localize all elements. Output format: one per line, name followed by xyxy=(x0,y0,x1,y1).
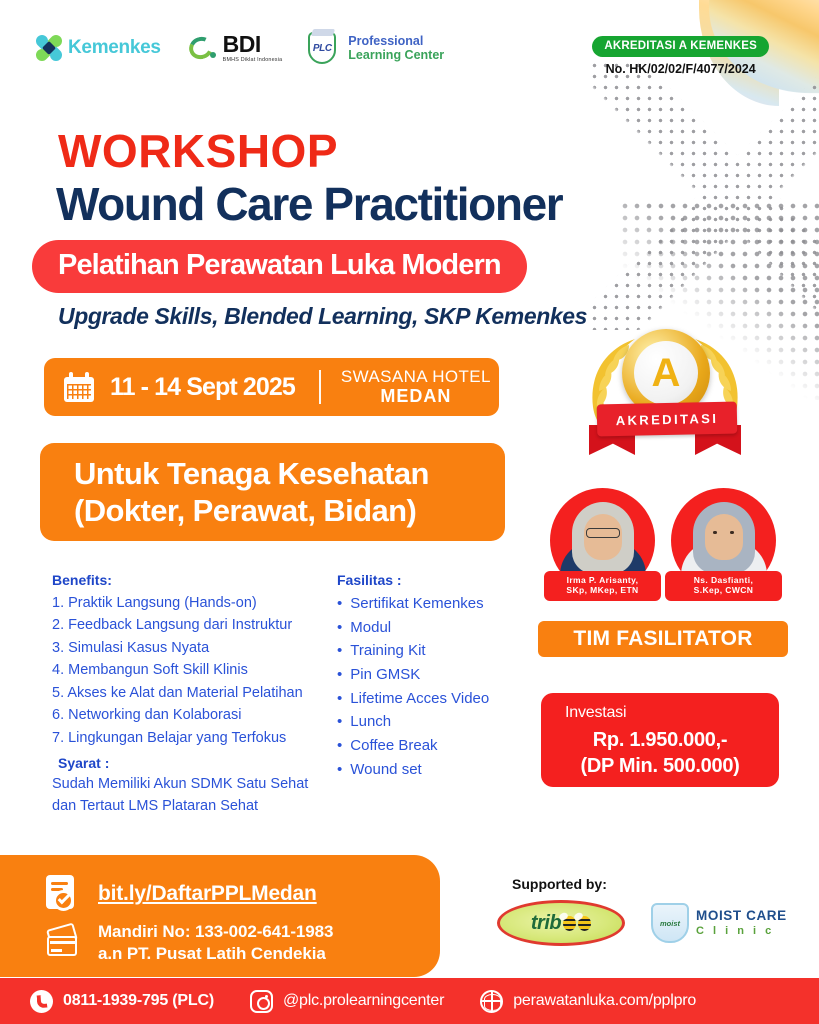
bank-account-name: a.n PT. Pusat Latih Cendekia xyxy=(98,943,333,965)
fasilitas-item-label: Training Kit xyxy=(350,639,425,663)
bullet-icon: • xyxy=(337,620,342,635)
plc-logo-line1: Professional xyxy=(348,34,444,48)
benefits-item: 6. Networking dan Kolaborasi xyxy=(52,704,332,726)
bullet-icon: • xyxy=(337,762,342,777)
list-item: •Training Kit xyxy=(337,639,537,663)
halftone-dots-decoration xyxy=(589,60,819,330)
shield-icon: moist xyxy=(651,903,689,943)
event-venue: SWASANA HOTEL MEDAN xyxy=(341,367,491,406)
plc-logo-line2: Learning Center xyxy=(348,48,444,62)
list-item: •Coffee Break xyxy=(337,734,537,758)
benefits-item: 7. Lingkungan Belajar yang Terfokus xyxy=(52,727,332,749)
graduation-cap-icon xyxy=(311,29,335,36)
fasilitas-block: Fasilitas : •Sertifikat Kemenkes •Modul … xyxy=(337,572,537,782)
schedule-bar: 11 - 14 Sept 2025 SWASANA HOTEL MEDAN xyxy=(44,358,499,416)
facilitator-card: Irma P. Arisanty, SKp, MKep, ETN xyxy=(550,488,655,593)
supporter-logos: trib moist MOIST CARE C l i n i c xyxy=(497,900,787,946)
bdi-logo: BDI BMHS Diklat Indonesia xyxy=(187,33,283,63)
bullet-icon: • xyxy=(337,643,342,658)
title-pill: Pelatihan Perawatan Luka Modern xyxy=(32,240,527,293)
registration-panel: bit.ly/DaftarPPLMedan Mandiri No: 133-00… xyxy=(0,855,440,977)
facilitator-name-badge: Irma P. Arisanty, SKp, MKep, ETN xyxy=(544,571,661,601)
fasilitas-item-label: Lunch xyxy=(350,710,391,734)
divider xyxy=(319,370,321,404)
bullet-icon: • xyxy=(337,691,342,706)
list-item: •Sertifikat Kemenkes xyxy=(337,592,537,616)
facilitator-name-badge: Ns. Dasfianti, S.Kep, CWCN xyxy=(665,571,782,601)
syarat-heading: Syarat : xyxy=(52,755,332,771)
investment-label: Investasi xyxy=(541,704,779,722)
facilitator-credentials: SKp, MKep, ETN xyxy=(546,585,659,596)
facilitator-team-label: TIM FASILITATOR xyxy=(538,621,788,657)
list-item: •Modul xyxy=(337,616,537,640)
header: Kemenkes BDI BMHS Diklat Indonesia PLC P… xyxy=(0,0,819,100)
bank-account-number: Mandiri No: 133-002-641-1983 xyxy=(98,921,333,943)
venue-city: MEDAN xyxy=(341,386,491,406)
fasilitas-heading: Fasilitas : xyxy=(337,572,537,588)
audience-line-1: Untuk Tenaga Kesehatan xyxy=(74,455,429,492)
moist-care-clinic-logo: moist MOIST CARE C l i n i c xyxy=(651,903,787,943)
bdi-icon xyxy=(187,35,217,61)
fasilitas-item-label: Pin GMSK xyxy=(350,663,420,687)
footer-website[interactable]: perawatanluka.com/pplpro xyxy=(480,990,696,1013)
moist-logo-mark: moist xyxy=(660,919,680,928)
venue-name: SWASANA HOTEL xyxy=(341,367,491,386)
benefits-item: 3. Simulasi Kasus Nyata xyxy=(52,637,332,659)
footer-phone-text: 0811-1939-795 (PLC) xyxy=(63,992,214,1010)
kemenkes-logo-text: Kemenkes xyxy=(68,37,161,59)
plc-logo-mark: PLC xyxy=(313,43,332,54)
facilitator-name: Ns. Dasfianti, xyxy=(667,575,780,586)
accreditation-medal: A AKREDITASI xyxy=(575,325,755,465)
poster-root: Kemenkes BDI BMHS Diklat Indonesia PLC P… xyxy=(0,0,819,1024)
fasilitas-item-label: Lifetime Acces Video xyxy=(350,687,489,711)
moist-logo-line1: MOIST CARE xyxy=(696,908,787,924)
list-item: •Lunch xyxy=(337,710,537,734)
footer-phone[interactable]: 0811-1939-795 (PLC) xyxy=(30,990,214,1013)
benefits-item: 1. Praktik Langsung (Hands-on) xyxy=(52,592,332,614)
fasilitas-item-label: Sertifikat Kemenkes xyxy=(350,592,483,616)
accreditation-number: No. HK/02/02/F/4077/2024 xyxy=(592,62,769,76)
bee-icon xyxy=(578,916,591,931)
footer-contact-bar: 0811-1939-795 (PLC) @plc.prolearningcent… xyxy=(0,978,819,1024)
bullet-icon: • xyxy=(337,738,342,753)
list-item: •Pin GMSK xyxy=(337,663,537,687)
instagram-icon xyxy=(250,990,273,1013)
bdi-logo-subtext: BMHS Diklat Indonesia xyxy=(223,58,283,63)
supported-by-heading: Supported by: xyxy=(512,876,607,892)
fasilitas-item-label: Wound set xyxy=(350,758,421,782)
kemenkes-icon xyxy=(36,35,62,61)
footer-instagram[interactable]: @plc.prolearningcenter xyxy=(250,990,444,1013)
benefits-block: Benefits: 1. Praktik Langsung (Hands-on)… xyxy=(52,572,332,749)
benefits-heading: Benefits: xyxy=(52,572,332,588)
event-date: 11 - 14 Sept 2025 xyxy=(110,373,295,402)
phone-icon xyxy=(30,990,53,1013)
trib-logo: trib xyxy=(497,900,625,946)
title-eyebrow: WORKSHOP xyxy=(58,128,338,174)
syarat-block: Syarat : Sudah Memiliki Akun SDMK Satu S… xyxy=(52,755,332,818)
accreditation-block: AKREDITASI A KEMENKES No. HK/02/02/F/407… xyxy=(592,36,769,76)
plc-shield-icon: PLC xyxy=(308,32,336,64)
fasilitas-item-label: Coffee Break xyxy=(350,734,437,758)
trib-logo-text: trib xyxy=(531,912,561,935)
bullet-icon: • xyxy=(337,596,342,611)
form-check-icon xyxy=(46,875,82,913)
globe-icon xyxy=(480,990,503,1013)
syarat-text: Sudah Memiliki Akun SDMK Satu Sehat dan … xyxy=(52,774,332,818)
audience-line-2: (Dokter, Perawat, Bidan) xyxy=(74,492,429,529)
partner-logos: Kemenkes BDI BMHS Diklat Indonesia PLC P… xyxy=(36,32,444,64)
moist-logo-line2: C l i n i c xyxy=(696,925,787,938)
medal-ribbon-text: AKREDITASI xyxy=(616,410,719,427)
bank-details: Mandiri No: 133-002-641-1983 a.n PT. Pus… xyxy=(98,921,333,965)
plc-logo: PLC Professional Learning Center xyxy=(308,32,444,64)
bullet-icon: • xyxy=(337,714,342,729)
accreditation-badge: AKREDITASI A KEMENKES xyxy=(592,36,769,57)
facilitator-credentials: S.Kep, CWCN xyxy=(667,585,780,596)
credit-card-icon xyxy=(46,926,82,960)
registration-link[interactable]: bit.ly/DaftarPPLMedan xyxy=(98,882,317,906)
medal-ribbon: AKREDITASI xyxy=(597,402,738,437)
facilitator-card: Ns. Dasfianti, S.Kep, CWCN xyxy=(671,488,776,593)
benefits-item: 2. Feedback Langsung dari Instruktur xyxy=(52,614,332,636)
kemenkes-logo: Kemenkes xyxy=(36,35,161,61)
investment-card: Investasi Rp. 1.950.000,- (DP Min. 500.0… xyxy=(541,693,779,787)
glasses-icon xyxy=(586,528,620,538)
list-item: •Lifetime Acces Video xyxy=(337,687,537,711)
list-item: •Wound set xyxy=(337,758,537,782)
investment-amount: Rp. 1.950.000,- xyxy=(541,727,779,753)
benefits-item: 4. Membangun Soft Skill Klinis xyxy=(52,659,332,681)
bullet-icon: • xyxy=(337,667,342,682)
page-title: Wound Care Practitioner xyxy=(56,180,562,228)
medal-grade: A xyxy=(652,353,681,393)
medal-inner-disc: A xyxy=(634,341,698,405)
fasilitas-item-label: Modul xyxy=(350,616,391,640)
facilitators-block: Irma P. Arisanty, SKp, MKep, ETN Ns. Das… xyxy=(538,488,788,657)
bdi-logo-text: BDI xyxy=(223,33,283,56)
investment-dp: (DP Min. 500.000) xyxy=(541,753,779,779)
footer-website-text: perawatanluka.com/pplpro xyxy=(513,992,696,1010)
benefits-item: 5. Akses ke Alat dan Material Pelatihan xyxy=(52,682,332,704)
footer-instagram-text: @plc.prolearningcenter xyxy=(283,992,444,1010)
audience-banner: Untuk Tenaga Kesehatan (Dokter, Perawat,… xyxy=(40,443,505,541)
title-subtitle: Upgrade Skills, Blended Learning, SKP Ke… xyxy=(58,303,587,330)
calendar-icon xyxy=(64,372,94,402)
facilitator-name: Irma P. Arisanty, xyxy=(546,575,659,586)
